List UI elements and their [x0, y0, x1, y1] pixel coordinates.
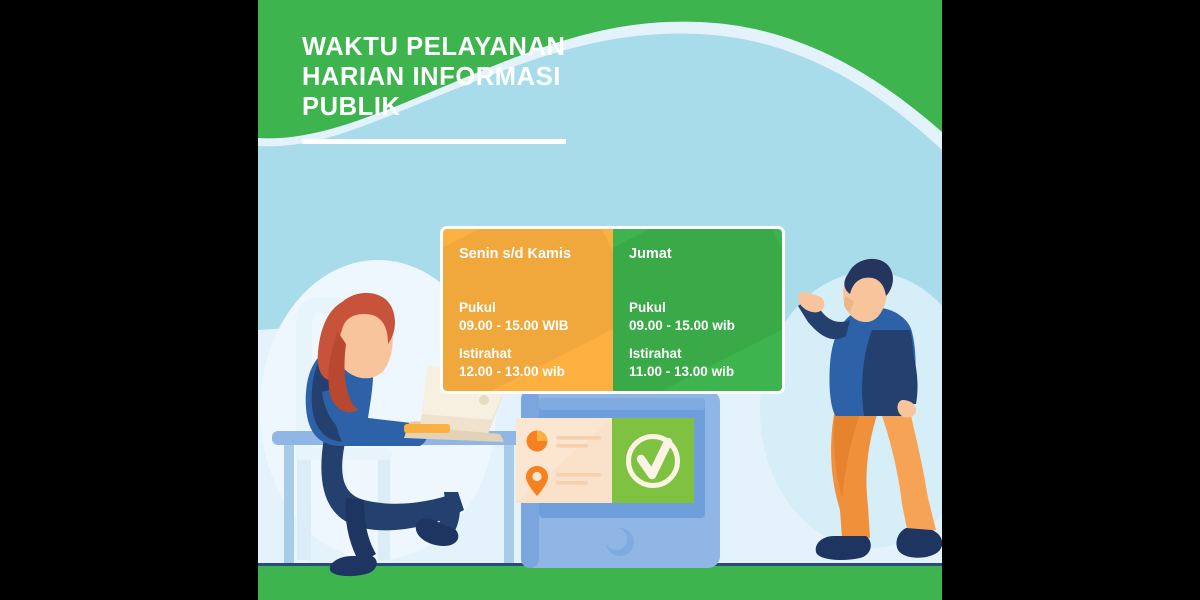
tablet-home-button-inner — [605, 528, 627, 550]
poster-artboard: WAKTU PELAYANAN HARIAN INFORMASI PUBLIK — [258, 0, 942, 600]
weekday-open-label: Pukul — [459, 299, 613, 317]
page-title: WAKTU PELAYANAN HARIAN INFORMASI PUBLIK — [302, 32, 632, 144]
weekday-open-slot: Pukul 09.00 - 15.00 WIB — [459, 299, 613, 335]
tablet-screen-top — [539, 398, 705, 410]
schedule-column-weekday[interactable]: Senin s/d Kamis Pukul 09.00 - 15.00 WIB … — [443, 229, 613, 391]
friday-open-slot: Pukul 09.00 - 15.00 wib — [629, 299, 782, 335]
schedule-column-friday[interactable]: Jumat Pukul 09.00 - 15.00 wib Istirahat … — [613, 229, 782, 391]
weekday-open-time: 09.00 - 15.00 WIB — [459, 317, 613, 335]
friday-break-time: 11.00 - 13.00 wib — [629, 363, 782, 381]
friday-open-time: 09.00 - 15.00 wib — [629, 317, 782, 335]
check-panel — [612, 418, 694, 503]
poster-root: WAKTU PELAYANAN HARIAN INFORMASI PUBLIK — [0, 0, 1200, 600]
weekday-break-label: Istirahat — [459, 345, 613, 363]
friday-day-label: Jumat — [629, 245, 782, 263]
title-line-3: PUBLIK — [302, 92, 632, 122]
man-pointing-illustration — [798, 252, 942, 572]
friday-break-slot: Istirahat 11.00 - 13.00 wib — [629, 345, 782, 381]
schedule-card[interactable]: Senin s/d Kamis Pukul 09.00 - 15.00 WIB … — [440, 226, 785, 394]
weekday-break-slot: Istirahat 12.00 - 13.00 wib — [459, 345, 613, 381]
weekday-day-label: Senin s/d Kamis — [459, 245, 613, 263]
title-line-1: WAKTU PELAYANAN — [302, 32, 632, 62]
man-leg-front — [878, 402, 936, 534]
info-card — [516, 418, 694, 503]
friday-break-label: Istirahat — [629, 345, 782, 363]
title-line-2: HARIAN INFORMASI — [302, 62, 632, 92]
clock-icon — [527, 431, 548, 452]
weekday-break-time: 12.00 - 13.00 wib — [459, 363, 613, 381]
title-underline — [302, 139, 566, 144]
friday-open-label: Pukul — [629, 299, 782, 317]
man-shoes — [816, 528, 942, 560]
